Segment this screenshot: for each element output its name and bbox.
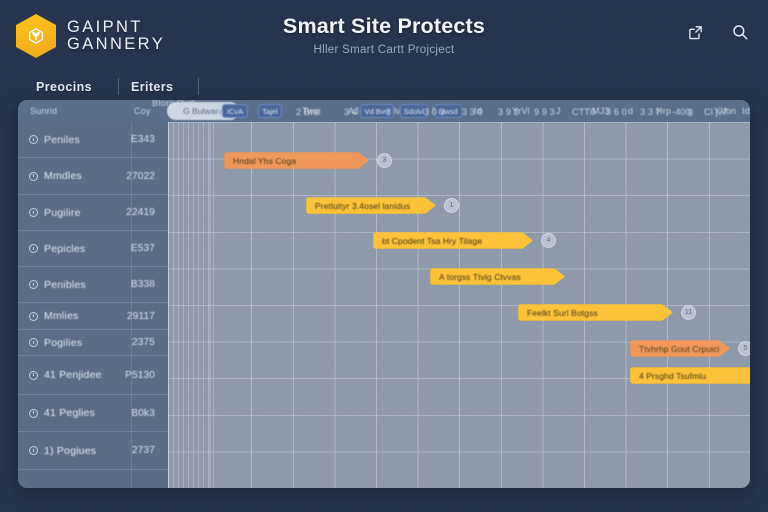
task-value: B0k3 — [131, 408, 155, 419]
top-bar: GAIPNT GANNERY Smart Site Protects Hller… — [0, 0, 768, 72]
clock-icon — [29, 446, 38, 455]
timeline-header-label: J — [556, 106, 561, 116]
task-value: E537 — [131, 243, 155, 254]
header-value: 2 Bral — [296, 107, 321, 117]
task-label: Pugilire — [44, 207, 126, 219]
assignee-avatar[interactable]: 4 — [541, 233, 556, 248]
column-header-value: Coy — [134, 106, 151, 116]
brand-name: GAIPNT GANNERY — [67, 19, 165, 53]
task-value: 27022 — [126, 171, 155, 182]
clock-icon — [29, 172, 38, 181]
table-row[interactable]: PenilesE343 — [18, 122, 168, 158]
clock-icon — [29, 244, 38, 253]
tab-eriters[interactable]: Eriters — [131, 80, 173, 94]
task-value: 29117 — [127, 311, 155, 322]
gantt-bar[interactable]: bt Cpodent Tsa Hry Tilage — [373, 232, 533, 249]
gantt-bar[interactable]: A torgss Ttvig Ctvvas — [430, 268, 565, 285]
table-row[interactable]: Pogilies2375 — [18, 330, 168, 356]
search-icon[interactable] — [728, 20, 752, 44]
gantt-bar[interactable]: Ttvhrhp Gout Crpuici — [630, 340, 730, 357]
table-row[interactable]: Pugilire22419 — [18, 195, 168, 231]
assignee-avatar[interactable]: 3 — [377, 153, 392, 168]
timeline-grid[interactable]: Hndal Yhs Coga3Pretluityr 3.4osel lanidu… — [168, 122, 750, 488]
toolbar-divider — [118, 78, 119, 95]
brand-line-1: GAIPNT — [67, 18, 143, 36]
header-value: Cl jv7 — [704, 107, 728, 117]
table-row[interactable]: PepiclesE537 — [18, 231, 168, 267]
task-value: 22419 — [126, 207, 155, 218]
task-value: E343 — [131, 134, 155, 145]
table-row[interactable]: 41 PegliesB0k3 — [18, 395, 168, 432]
header-value: 9 9 3 — [534, 107, 555, 117]
column-header-task: Sunrid — [30, 106, 57, 116]
table-row[interactable]: PeniblesB338 — [18, 267, 168, 303]
clock-icon — [29, 338, 38, 347]
toolbar-divider — [198, 78, 199, 95]
toolbar: Preocins Eriters — [0, 74, 768, 100]
brand-line-2: GANNERY — [67, 35, 165, 53]
header-chip[interactable]: ICvA — [222, 104, 248, 118]
header-value: CTT0 — [572, 107, 595, 117]
header-value: 3 3 0 — [462, 107, 483, 117]
table-row[interactable]: 1) Pogiues2737 — [18, 432, 168, 470]
clock-icon — [29, 135, 38, 144]
assignee-avatar[interactable]: 11 — [681, 305, 696, 320]
assignee-avatar[interactable]: 1 — [444, 198, 459, 213]
table-header: Sunrid Coy G Bulware Btorc.OvdiMlviIdTwo… — [18, 100, 750, 122]
header-value: 3 — [386, 107, 391, 117]
gantt-bar[interactable]: 4 Prsghd Tsufmlu — [630, 367, 750, 384]
task-label: Peniles — [44, 134, 131, 146]
task-list-sidebar: PenilesE343Mmdles27022Pugilire22419Pepic… — [18, 122, 168, 488]
task-value: 2375 — [132, 337, 155, 348]
task-label: Penibles — [44, 279, 131, 291]
gantt-panel: Sunrid Coy G Bulware Btorc.OvdiMlviIdTwo… — [18, 100, 750, 488]
timeline-header-label: d — [628, 106, 633, 116]
timeline-header-label: Id — [742, 106, 750, 116]
task-label: Pepicles — [44, 243, 131, 255]
task-label: 41 Peglies — [44, 407, 131, 419]
top-actions — [683, 20, 752, 44]
tab-preocins[interactable]: Preocins — [36, 80, 92, 94]
gantt-bar[interactable]: Pretluityr 3.4osel lanidus — [306, 197, 436, 214]
header-value: 3 4 — [344, 107, 357, 117]
task-value: B338 — [131, 279, 155, 290]
brand[interactable]: GAIPNT GANNERY — [16, 14, 165, 58]
header-value: 3 9 3 — [498, 107, 519, 117]
header-value: 3 3 7 — [640, 107, 661, 117]
export-icon[interactable] — [683, 20, 707, 44]
gantt-bar[interactable]: Hndal Yhs Coga — [224, 152, 369, 169]
table-row[interactable]: Mmdles27022 — [18, 158, 168, 195]
task-label: Pogilies — [44, 337, 132, 349]
header-value: 3 0 3 — [424, 107, 445, 117]
gantt-bar[interactable]: Feelkt Surl Botgss — [518, 304, 673, 321]
hexagon-logo-icon — [16, 14, 56, 58]
table-row[interactable]: Mmlies29117 — [18, 303, 168, 330]
header-value: -400 — [672, 107, 691, 117]
task-label: 41 Penjidee — [44, 369, 125, 381]
clock-icon — [29, 371, 38, 380]
task-label: 1) Pogiues — [44, 445, 132, 457]
logo-emblem-icon — [27, 26, 46, 47]
task-label: Mmlies — [44, 310, 127, 322]
clock-icon — [29, 312, 38, 321]
header-chip[interactable]: Tajel — [258, 104, 282, 118]
task-label: Mmdles — [44, 170, 126, 182]
table-row[interactable]: 41 PenjideeP5130 — [18, 356, 168, 395]
task-value: P5130 — [125, 370, 155, 381]
clock-icon — [29, 280, 38, 289]
timeline-header-label: Btorc.Ovdi — [152, 100, 196, 108]
header-value: 3 6 0 — [606, 107, 627, 117]
task-value: 2737 — [132, 445, 155, 456]
clock-icon — [29, 208, 38, 217]
assignee-avatar[interactable]: 5 — [738, 341, 750, 356]
clock-icon — [29, 409, 38, 418]
